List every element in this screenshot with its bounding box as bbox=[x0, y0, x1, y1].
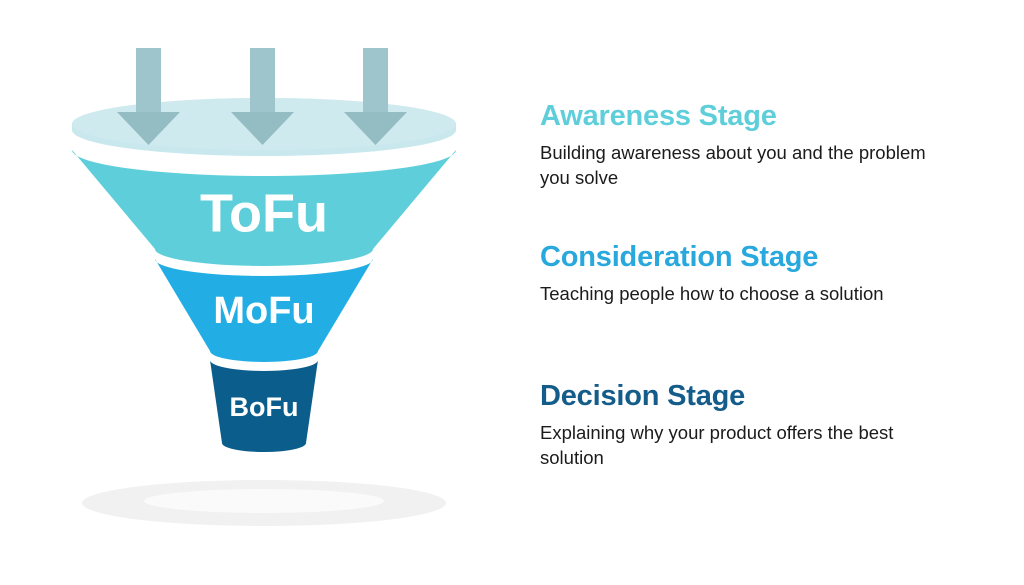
stage-heading-consideration: Consideration Stage bbox=[540, 241, 940, 273]
inflow-arrows bbox=[117, 48, 407, 145]
stage-description-awareness: Building awareness about you and the pro… bbox=[540, 141, 932, 191]
stage-description-decision: Explaining why your product offers the b… bbox=[540, 421, 932, 471]
stage-description-consideration: Teaching people how to choose a solution bbox=[540, 282, 932, 307]
funnel-band-mofu-label: MoFu bbox=[213, 290, 314, 332]
funnel-shadow-core bbox=[144, 489, 384, 513]
funnel-diagram: ToFu MoFu BoFu bbox=[0, 0, 520, 585]
funnel-band-bofu-label: BoFu bbox=[230, 392, 299, 422]
stage-heading-decision: Decision Stage bbox=[540, 380, 940, 412]
stage-block-awareness: Awareness Stage Building awareness about… bbox=[540, 100, 940, 191]
stage-block-decision: Decision Stage Explaining why your produ… bbox=[540, 380, 940, 471]
stage-heading-awareness: Awareness Stage bbox=[540, 100, 940, 132]
funnel-band-tofu-label: ToFu bbox=[200, 183, 328, 243]
stage-descriptions: Awareness Stage Building awareness about… bbox=[540, 0, 960, 585]
slide-canvas: ToFu MoFu BoFu Awareness Stage Building … bbox=[0, 0, 1024, 585]
stage-block-consideration: Consideration Stage Teaching people how … bbox=[540, 241, 940, 307]
